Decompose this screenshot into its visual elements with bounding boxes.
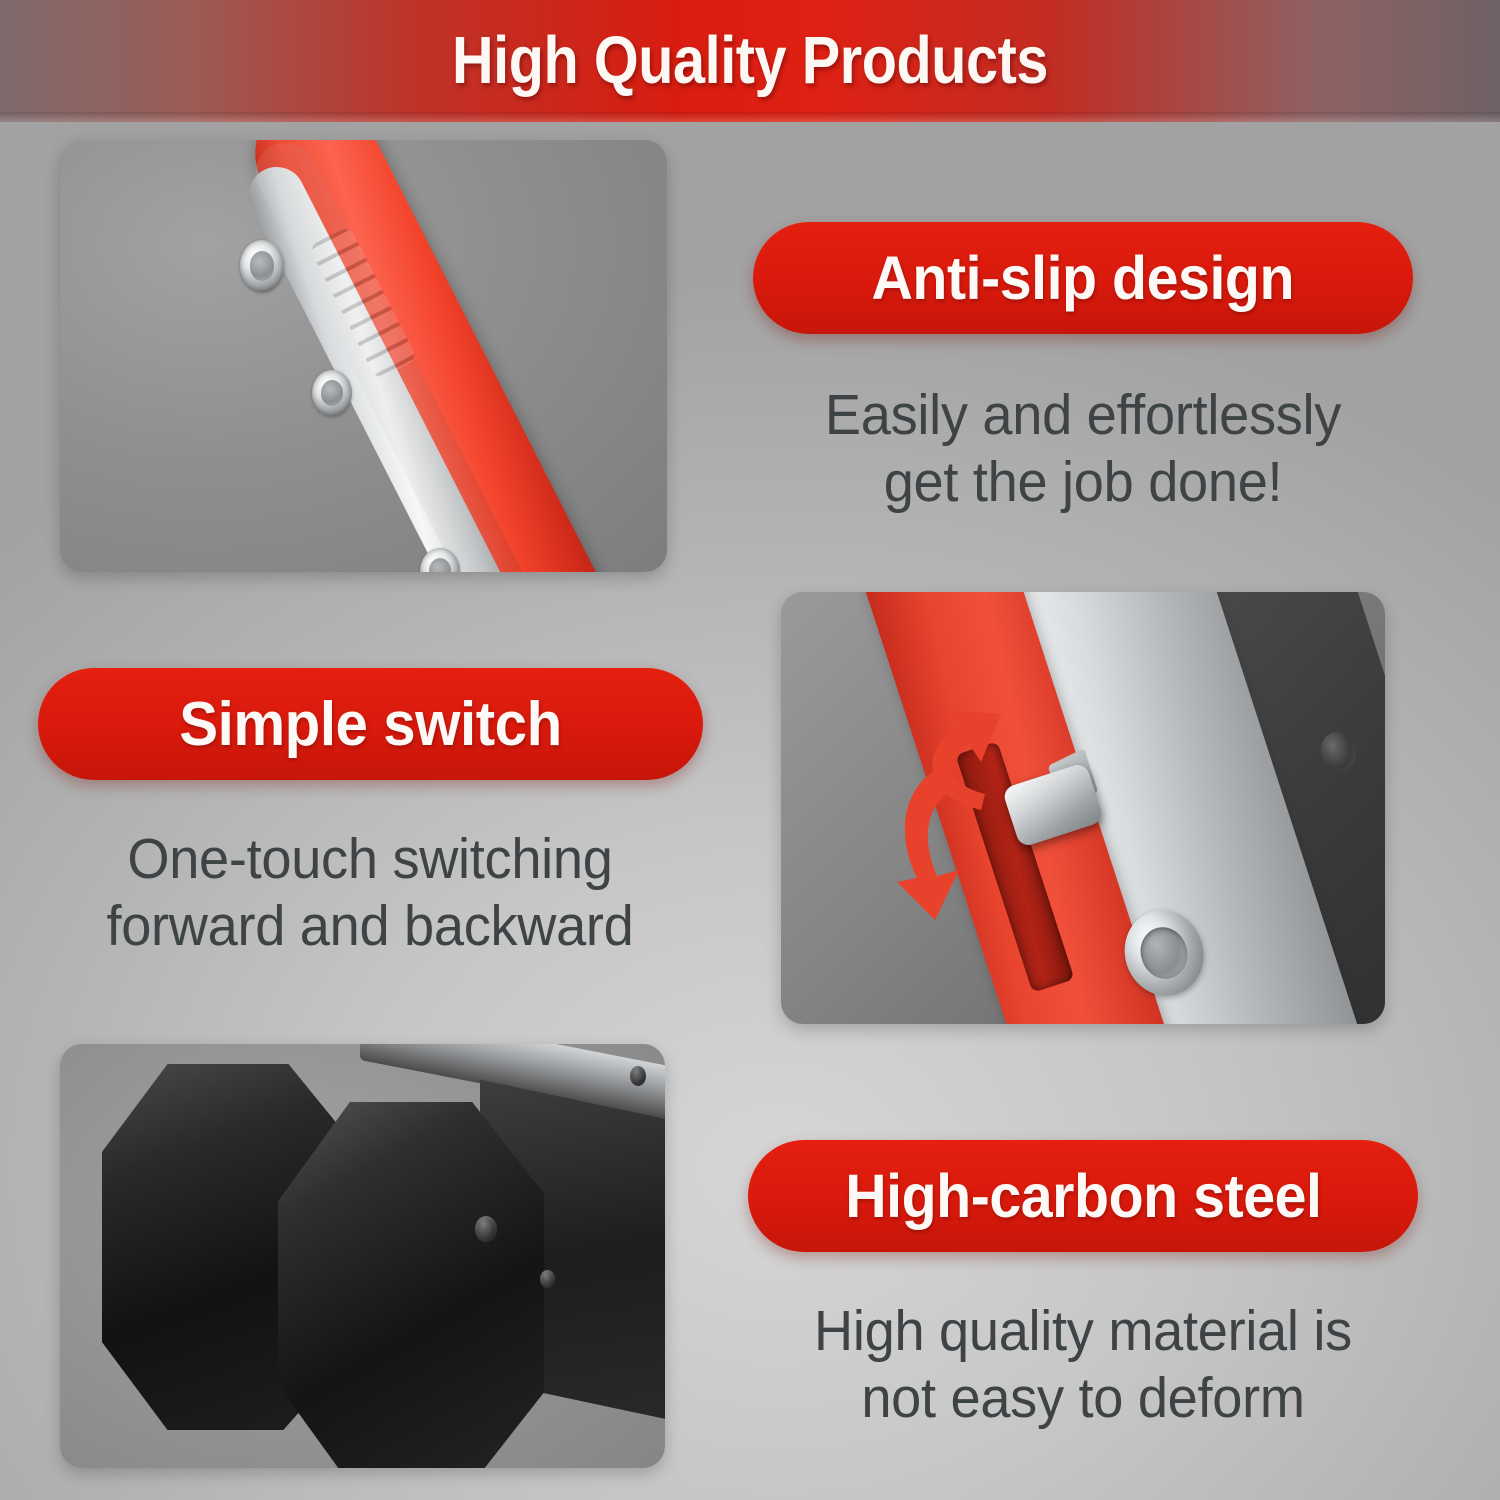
jaw-hole-icon	[540, 1270, 555, 1288]
steel-jaw-front	[278, 1102, 544, 1468]
badge-high-carbon-steel: High-carbon steel	[748, 1140, 1418, 1252]
jaw-hole-icon	[630, 1066, 646, 1086]
page-title: High Quality Products	[105, 0, 1395, 122]
header-banner: High Quality Products	[0, 0, 1500, 122]
product-infographic: High Quality Products Anti-slip design E…	[0, 0, 1500, 1500]
caption-anti-slip: Easily and effortlessly get the job done…	[751, 382, 1416, 515]
jaw-hole-icon	[475, 1216, 497, 1242]
badge-simple-switch: Simple switch	[38, 668, 703, 780]
feature-image-anti-slip	[60, 140, 667, 572]
caption-high-carbon-steel: High quality material is not easy to def…	[751, 1298, 1416, 1431]
feature-image-simple-switch	[781, 592, 1385, 1024]
rivet-icon	[312, 370, 352, 416]
feature-image-high-carbon-steel	[60, 1044, 665, 1468]
badge-label: Simple switch	[179, 689, 562, 760]
badge-label: Anti-slip design	[872, 243, 1295, 313]
badge-anti-slip: Anti-slip design	[753, 222, 1413, 334]
direction-arrow-icon	[873, 692, 1043, 932]
caption-simple-switch: One-touch switching forward and backward	[52, 826, 689, 959]
rivet-icon	[240, 240, 284, 292]
badge-label: High-carbon steel	[845, 1161, 1321, 1231]
